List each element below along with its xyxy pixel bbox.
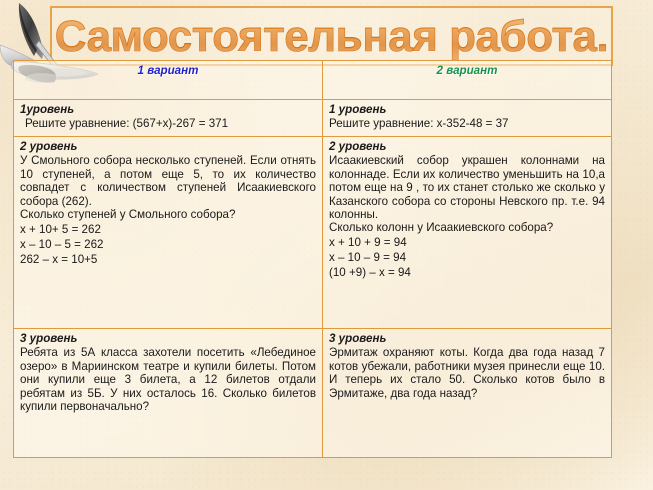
task-text: Эрмитаж охраняют коты. Когда два года на… — [329, 346, 605, 400]
cell-level2-variant2: 2 уровень Исаакиевский собор украшен кол… — [323, 137, 612, 329]
cell-level3-variant2: 3 уровень Эрмитаж охраняют коты. Когда д… — [323, 329, 612, 458]
task-text: Ребята из 5А класса захотели посетить «Л… — [20, 346, 316, 413]
task-text: Решите уравнение: (567+x)-267 = 371 — [20, 117, 228, 130]
equation-option: x + 10+ 5 = 262 — [20, 223, 316, 236]
task-text: Решите уравнение: x-352-48 = 37 — [329, 117, 509, 130]
task-text: У Смольного собора несколько ступеней. Е… — [20, 154, 316, 208]
level-label: 3 уровень — [329, 332, 605, 345]
task-question: Сколько колонн у Исаакиевского собора? — [329, 221, 605, 234]
cell-level1-variant1: 1уровень Решите уравнение: (567+x)-267 =… — [14, 100, 323, 137]
equation-option: (10 +9) – x = 94 — [329, 266, 605, 279]
column-header-variant-1: 1 вариант — [14, 61, 323, 100]
level-label: 1уровень — [20, 103, 316, 116]
table-row-level-1: 1уровень Решите уравнение: (567+x)-267 =… — [14, 100, 612, 137]
equation-option: x + 10 + 9 = 94 — [329, 236, 605, 249]
task-question: Сколько ступеней у Смольного собора? — [20, 208, 316, 221]
equation-option: x – 10 – 5 = 262 — [20, 238, 316, 251]
level-label: 1 уровень — [329, 103, 605, 116]
table-row-variant-headers: 1 вариант 2 вариант — [14, 61, 612, 100]
cell-level1-variant2: 1 уровень Решите уравнение: x-352-48 = 3… — [323, 100, 612, 137]
slide-background: Самостоятельная работа. — [0, 0, 653, 490]
equation-option: x – 10 – 9 = 94 — [329, 251, 605, 264]
column-header-variant-2: 2 вариант — [323, 61, 612, 100]
equation-option: 262 – x = 10+5 — [20, 253, 316, 266]
cell-level3-variant1: 3 уровень Ребята из 5А класса захотели п… — [14, 329, 323, 458]
level-label: 2 уровень — [20, 140, 316, 153]
task-text: Исаакиевский собор украшен колоннами на … — [329, 154, 605, 221]
level-label: 3 уровень — [20, 332, 316, 345]
table-row-level-3: 3 уровень Ребята из 5А класса захотели п… — [14, 329, 612, 458]
cell-level2-variant1: 2 уровень У Смольного собора несколько с… — [14, 137, 323, 329]
variant-2-label: 2 вариант — [437, 64, 498, 77]
page-title: Самостоятельная работа. — [52, 6, 611, 68]
variant-1-label: 1 вариант — [138, 64, 199, 77]
level-label: 2 уровень — [329, 140, 605, 153]
table-row-level-2: 2 уровень У Смольного собора несколько с… — [14, 137, 612, 329]
title-box: Самостоятельная работа. — [50, 6, 613, 66]
tasks-table: 1 вариант 2 вариант 1уровень Решите урав… — [13, 60, 612, 458]
